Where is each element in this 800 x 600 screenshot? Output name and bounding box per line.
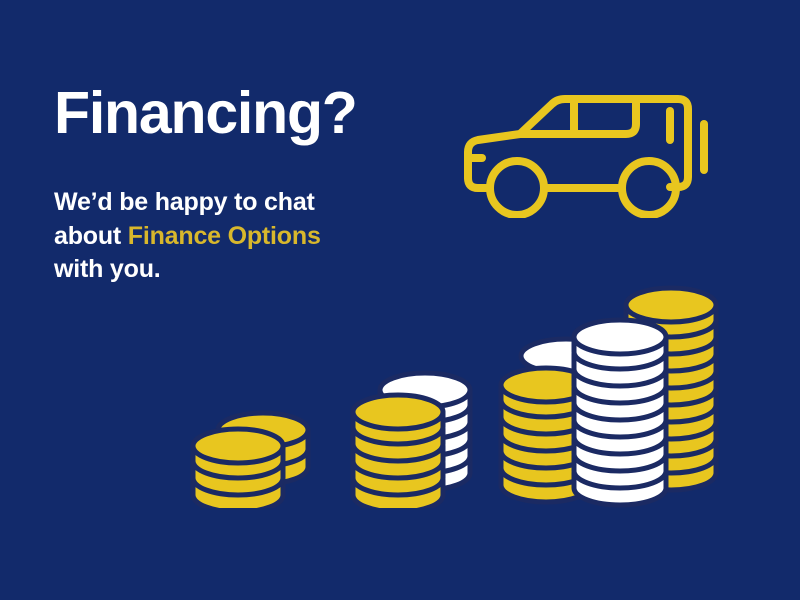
car-icon — [448, 78, 712, 218]
subcopy-line-3: with you. — [54, 255, 161, 283]
finance-options-highlight: Finance Options — [128, 222, 321, 250]
page-title: Financing? — [54, 84, 357, 143]
subcopy-line-1: We’d be happy to chat — [54, 188, 315, 216]
coin-stack-small — [188, 392, 328, 508]
car-illustration — [448, 78, 712, 218]
subcopy-text: We’d be happy to chat about Finance Opti… — [54, 186, 374, 287]
coin-front-stack — [353, 395, 443, 508]
coin-front-stack — [574, 320, 666, 505]
coin-front-stack — [193, 429, 283, 508]
coin-stack-large — [496, 268, 721, 508]
coin-stack-medium — [348, 352, 488, 508]
promo-slide: Financing? We’d be happy to chat about F… — [0, 0, 800, 600]
subcopy-line-2-prefix: about — [54, 222, 128, 250]
car-front-wheel — [490, 161, 544, 215]
